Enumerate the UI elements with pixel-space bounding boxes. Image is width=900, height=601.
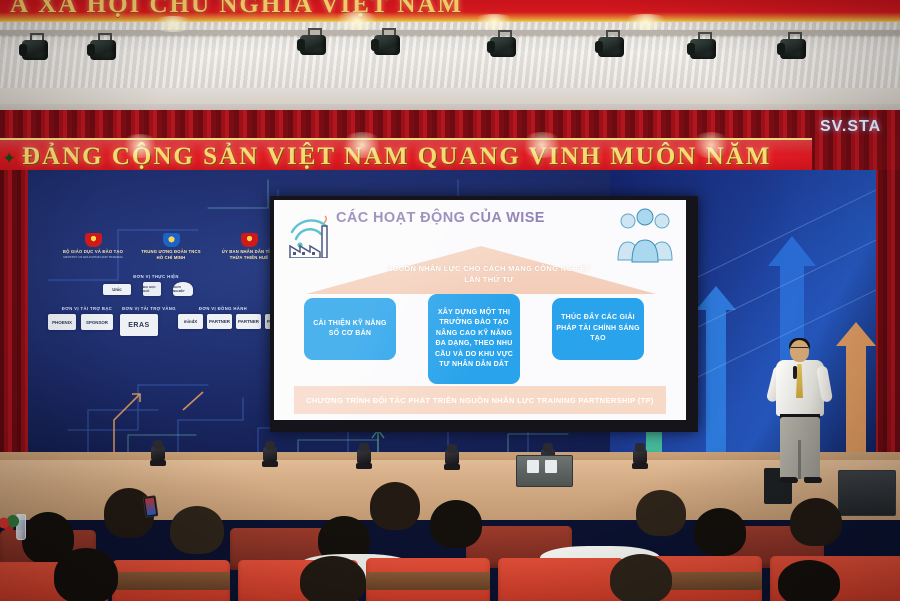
stage-light-icon [374,28,400,58]
moving-head-light-icon [262,441,278,467]
sponsor-logo: Unic [103,284,131,295]
wifi-factory-icon [286,214,342,258]
slide-title: CÁC HOẠT ĐỘNG CỦA WISE [336,210,545,226]
sponsor-logo: PHOENIX [48,314,76,330]
section-label-tai-tro-bac: ĐƠN VỊ TÀI TRỢ BẠC [52,306,122,311]
stage-light-icon [598,30,624,60]
light-glare [330,12,384,30]
audience-head [610,554,672,601]
audience-head [636,490,686,536]
moving-head-light-icon [632,443,648,469]
slide-pillar-2: XÂY DỰNG MỘT THỊ TRƯỜNG ĐÀO TẠO NÂNG CAO… [428,294,520,384]
slide-pediment-text: NGUỒN NHÂN LỰC CHO CÁCH MẠNG CÔNG NGHIỆP… [384,264,594,285]
section-label-dong-hanh: ĐƠN VỊ ĐỒNG HÀNH [184,306,262,311]
top-banner-text: Ã XÃ HỘI CHỦ NGHĨA VIỆT NAM [10,0,890,19]
slide-pillar-1: CẢI THIỆN KỸ NĂNG SỐ CƠ BẢN [304,298,396,360]
organizer-subtitle: HỒ CHÍ MINH [132,255,210,261]
audience-head [778,560,840,601]
trouser-gap [798,440,801,479]
lighting-truss [0,30,900,35]
organizer-logo-row: BỘ GIÁO DỤC VÀ ĐÀO TẠO MINISTRY OF EDUCA… [54,233,288,261]
seat-armrest [366,572,490,590]
stage-light-icon [90,33,116,63]
glasses-icon [791,347,808,352]
moving-head-light-icon [150,440,166,466]
organizer-logo: BỘ GIÁO DỤC VÀ ĐÀO TẠO MINISTRY OF EDUCA… [54,233,132,259]
conference-hall-photo: Ã XÃ HỘI CHỦ NGHĨA VIỆT NAM ĐẢNG CỘNG SẢ… [0,0,900,601]
presenter-shoe [804,477,822,483]
stage-light-icon [300,28,326,58]
event-brand-logo: SV.STA [820,118,881,136]
audience-head [300,556,366,601]
light-glare [150,16,196,32]
sponsor-logo: PARTNER [236,314,261,329]
banner-spot-glare [340,132,384,158]
stage-light-icon [22,33,48,63]
moving-head-light-icon [444,444,460,470]
slide-pillar-3: THÚC ĐẨY CÁC GIẢI PHÁP TÀI CHÍNH SÁNG TẠ… [552,298,644,360]
section-label-thuc-hien: ĐƠN VỊ THỰC HIỆN [122,274,190,279]
stage-light-icon [780,32,806,62]
national-emblem-icon [241,233,258,247]
silver-sponsor-row: PHOENIX SPONSOR [48,314,113,330]
star-icon: ✦ [2,150,20,168]
gold-sponsor-row: ERAS [120,314,158,336]
microphone-icon [793,366,797,379]
banner-spot-glare [120,134,160,158]
banner-spot-glare [690,132,732,158]
moving-head-light-icon [356,443,372,469]
presenter [768,340,838,490]
youth-union-emblem-icon [163,233,180,247]
national-emblem-icon [85,233,102,247]
light-glare [470,14,518,30]
light-glare [620,14,672,30]
section-label-tai-tro-vang: ĐƠN VỊ TÀI TRỢ VÀNG [114,306,184,311]
audience-head [790,498,842,546]
sponsor-logo: ERAS [120,314,158,336]
organizer-subtitle: MINISTRY OF EDUCATION AND TRAINING [54,255,132,259]
top-banner: Ã XÃ HỘI CHỦ NGHĨA VIỆT NAM [0,0,900,22]
audience-head [370,482,420,530]
seat-armrest [112,572,230,590]
presenter-shoe [780,477,798,483]
sponsor-logo: ĐẠI HỌC HUẾ [143,282,161,296]
sponsor-logo: KHỞI NGHIỆP [173,282,193,296]
sponsor-logo: PARTNER [207,314,232,329]
stage-light-icon [490,30,516,60]
audience-head [694,508,746,556]
projection-screen: CÁC HOẠT ĐỘNG CỦA WISE NGUỒN NHÂN LỰC CH… [270,196,698,432]
banner-spot-glare [520,132,564,158]
slide-base-text: CHƯƠNG TRÌNH ĐỐI TÁC PHÁT TRIỂN NGUỒN NH… [294,386,666,414]
sponsor-logo: SPONSOR [81,314,113,330]
stage-light-icon [690,32,716,62]
stage-monitor-case [516,455,573,487]
road-case [838,470,896,516]
audience-head [54,548,118,601]
presentation-slide: CÁC HOẠT ĐỘNG CỦA WISE NGUỒN NHÂN LỰC CH… [274,200,686,420]
seat [498,558,624,601]
audience-area [0,520,900,601]
people-group-icon [616,208,674,264]
sponsor-logo: mindX [178,314,203,329]
smartphone-icon [143,495,159,518]
implementer-logo-row: Unic ĐẠI HỌC HUẾ KHỞI NGHIỆP [103,282,193,296]
audience-head [430,500,482,548]
organizer-logo: TRUNG ƯƠNG ĐOÀN TNCS HỒ CHÍ MINH [132,233,210,261]
audience-head [170,506,224,554]
